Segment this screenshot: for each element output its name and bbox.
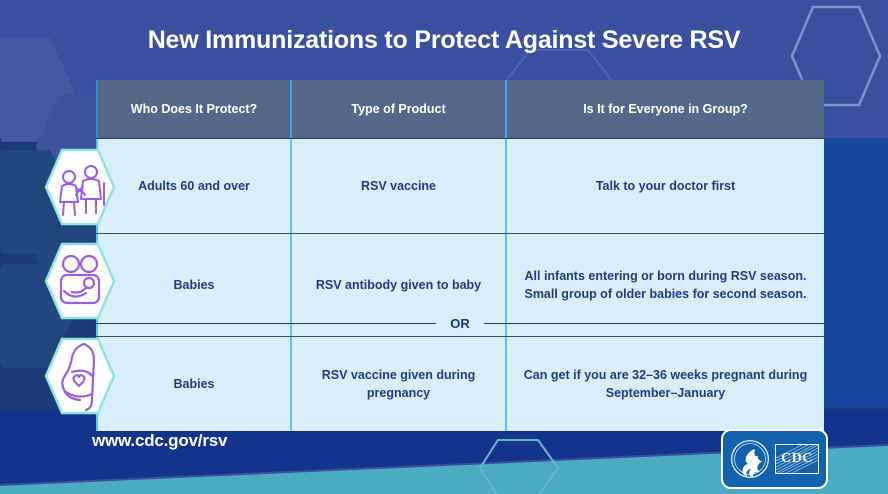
hhs-seal-icon <box>730 439 770 479</box>
cell-who: Adults 60 and over <box>96 139 290 233</box>
website-url[interactable]: www.cdc.gov/rsv <box>92 431 227 451</box>
cell-product: RSV vaccine <box>290 139 505 233</box>
cell-product: RSV vaccine given during pregnancy <box>290 337 505 431</box>
cell-who: Babies <box>96 234 290 336</box>
pregnant-person-icon <box>44 336 116 416</box>
table-row: Babies RSV vaccine given during pregnanc… <box>96 336 824 431</box>
cdc-wordmark: CDC <box>775 444 819 474</box>
cell-everyone: Talk to your doctor first <box>505 139 824 233</box>
column-header-everyone: Is It for Everyone in Group? <box>505 80 824 138</box>
older-adults-icon <box>44 147 116 227</box>
cell-who: Babies <box>96 337 290 431</box>
decorative-hexagon-outline <box>476 436 562 494</box>
parent-holding-baby-icon <box>44 241 116 321</box>
cdc-logo-text: CDC <box>781 451 813 467</box>
background-right-blue-block <box>820 138 888 438</box>
page-title: New Immunizations to Protect Against Sev… <box>0 26 888 55</box>
immunization-table: Who Does It Protect? Type of Product Is … <box>96 80 824 431</box>
table-header-row: Who Does It Protect? Type of Product Is … <box>96 80 824 138</box>
cell-product: RSV antibody given to baby <box>290 234 505 336</box>
table-row: Babies RSV antibody given to baby All in… <box>96 233 824 336</box>
cell-everyone: Can get if you are 32–36 weeks pregnant … <box>505 337 824 431</box>
column-header-product: Type of Product <box>290 80 505 138</box>
cell-everyone: All infants entering or born during RSV … <box>505 234 824 336</box>
cdc-rsv-infographic: New Immunizations to Protect Against Sev… <box>0 0 888 494</box>
cdc-hhs-logo[interactable]: CDC <box>721 429 828 489</box>
table-row: Adults 60 and over RSV vaccine Talk to y… <box>96 138 824 233</box>
column-header-who: Who Does It Protect? <box>96 80 290 138</box>
